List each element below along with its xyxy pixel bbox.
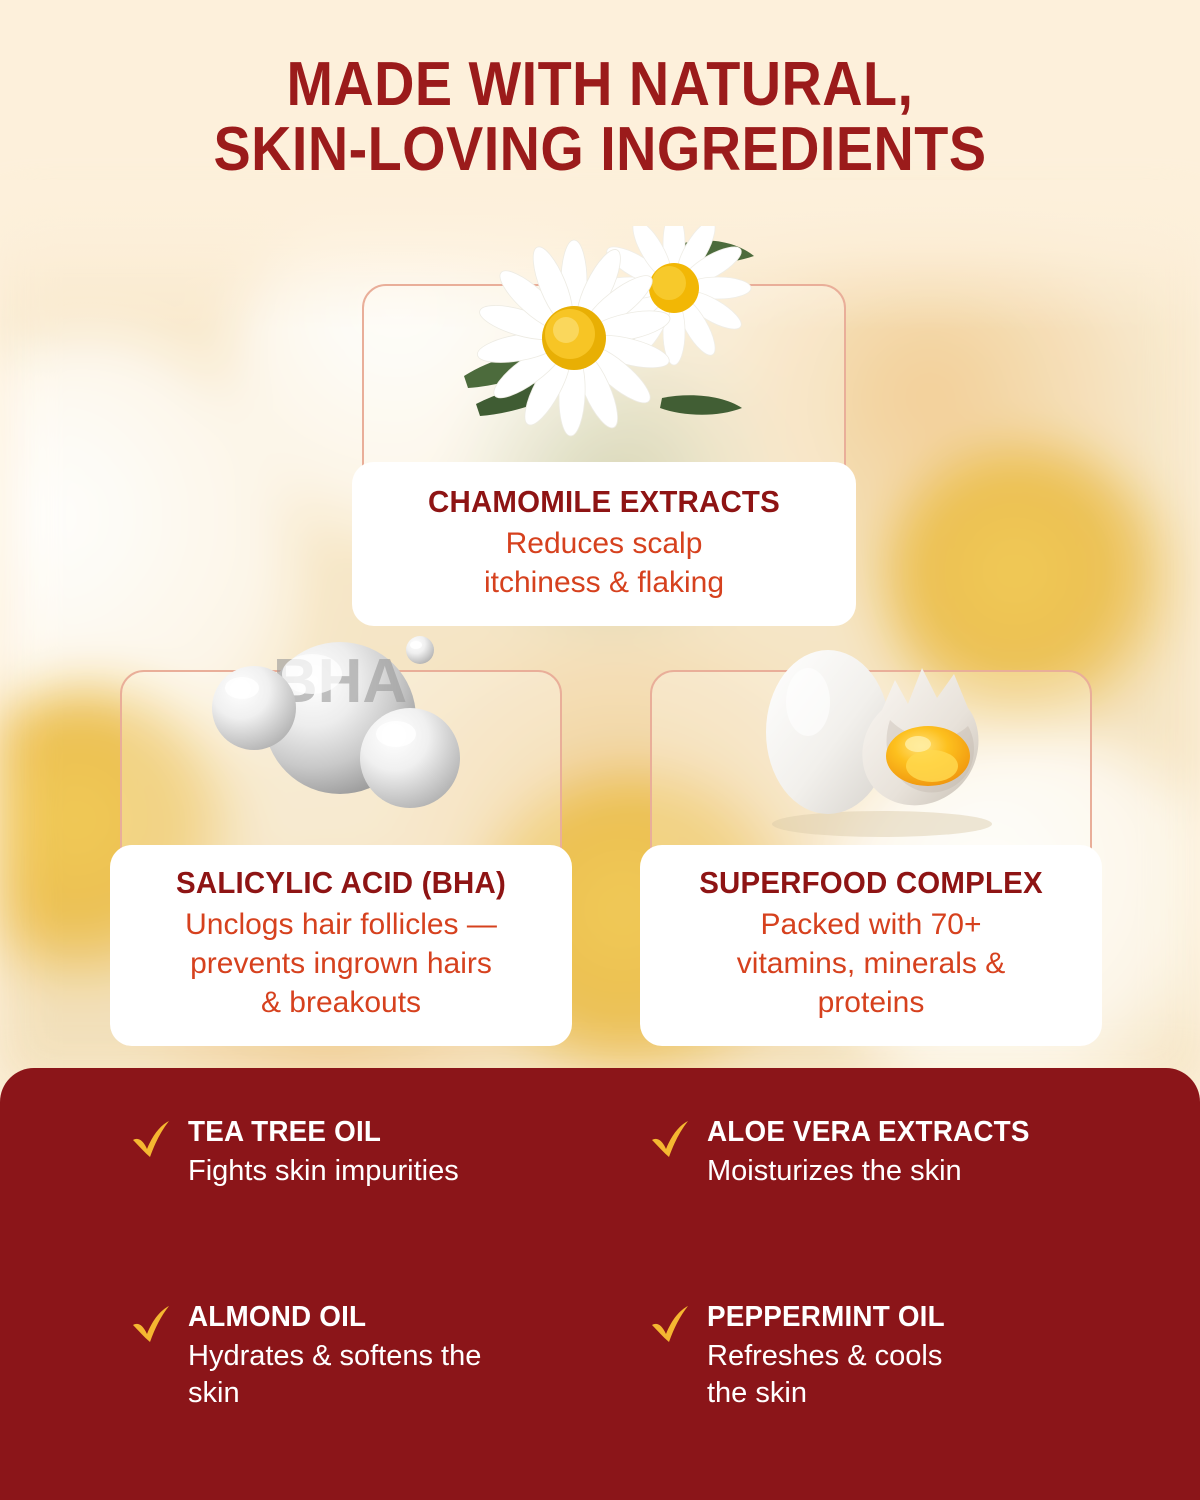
chamomile-desc-line-2: itchiness & flaking [370, 563, 838, 602]
superfood-desc-line-2: vitamins, minerals & [658, 944, 1084, 983]
aloe-vera-desc-line-1: Moisturizes the skin [707, 1153, 1043, 1190]
almond-oil-title: ALMOND OIL [188, 1301, 470, 1334]
peppermint-oil-desc-line-2: the skin [707, 1375, 955, 1412]
benefit-item-peppermint-oil: PEPPERMINT OIL Refreshes & cools the ski… [649, 1299, 1140, 1460]
superfood-description: Packed with 70+ vitamins, minerals & pro… [658, 905, 1084, 1022]
benefit-item-almond-oil: ALMOND OIL Hydrates & softens the skin [130, 1299, 621, 1460]
bha-desc-line-3: & breakouts [128, 983, 554, 1022]
headline-line-1: MADE WITH NATURAL, [287, 50, 914, 119]
almond-oil-desc-line-1: Hydrates & softens the [188, 1338, 481, 1375]
ingredient-card-superfood: SUPERFOOD COMPLEX Packed with 70+ vitami… [650, 670, 1092, 1034]
tea-tree-oil-desc-line-1: Fights skin impurities [188, 1153, 459, 1190]
chamomile-title: CHAMOMILE EXTRACTS [382, 484, 827, 520]
superfood-title: SUPERFOOD COMPLEX [669, 865, 1074, 901]
peppermint-oil-desc-line-1: Refreshes & cools [707, 1338, 955, 1375]
check-icon [649, 1118, 691, 1160]
almond-oil-description: Hydrates & softens the skin [188, 1338, 481, 1412]
tea-tree-oil-description: Fights skin impurities [188, 1153, 459, 1190]
ingredient-card-chamomile: CHAMOMILE EXTRACTS Reduces scalp itchine… [362, 284, 846, 614]
superfood-card-text: SUPERFOOD COMPLEX Packed with 70+ vitami… [640, 845, 1102, 1046]
check-icon [130, 1118, 172, 1160]
superfood-desc-line-3: proteins [658, 983, 1084, 1022]
bha-card-text: SALICYLIC ACID (BHA) Unclogs hair follic… [110, 845, 572, 1046]
check-icon [649, 1303, 691, 1345]
aloe-vera-description: Moisturizes the skin [707, 1153, 1043, 1190]
benefit-item-aloe-vera-extracts: ALOE VERA EXTRACTS Moisturizes the skin [649, 1114, 1140, 1275]
chamomile-desc-line-1: Reduces scalp [370, 524, 838, 563]
chamomile-description: Reduces scalp itchiness & flaking [370, 524, 838, 602]
check-icon [130, 1303, 172, 1345]
tea-tree-oil-title: TEA TREE OIL [188, 1116, 448, 1149]
benefits-panel: TEA TREE OIL Fights skin impurities ALOE… [0, 1068, 1200, 1500]
aloe-vera-title: ALOE VERA EXTRACTS [707, 1116, 1030, 1149]
chamomile-card-text: CHAMOMILE EXTRACTS Reduces scalp itchine… [352, 462, 856, 626]
bha-desc-line-1: Unclogs hair follicles — [128, 905, 554, 944]
bha-description: Unclogs hair follicles — prevents ingrow… [128, 905, 554, 1022]
ingredient-card-salicylic-acid: BHA SALICYLIC ACID (BHA) Unclogs hair fo… [120, 670, 562, 1034]
peppermint-oil-title: PEPPERMINT OIL [707, 1301, 945, 1334]
infographic-page: MADE WITH NATURAL, SKIN-LOVING INGREDIEN… [0, 0, 1200, 1500]
bha-desc-line-2: prevents ingrown hairs [128, 944, 554, 983]
bha-title: SALICYLIC ACID (BHA) [139, 865, 544, 901]
headline-line-2: SKIN-LOVING INGREDIENTS [60, 117, 1140, 182]
peppermint-oil-description: Refreshes & cools the skin [707, 1338, 955, 1412]
benefit-item-tea-tree-oil: TEA TREE OIL Fights skin impurities [130, 1114, 621, 1275]
page-title: MADE WITH NATURAL, SKIN-LOVING INGREDIEN… [60, 52, 1140, 182]
superfood-desc-line-1: Packed with 70+ [658, 905, 1084, 944]
almond-oil-desc-line-2: skin [188, 1375, 481, 1412]
